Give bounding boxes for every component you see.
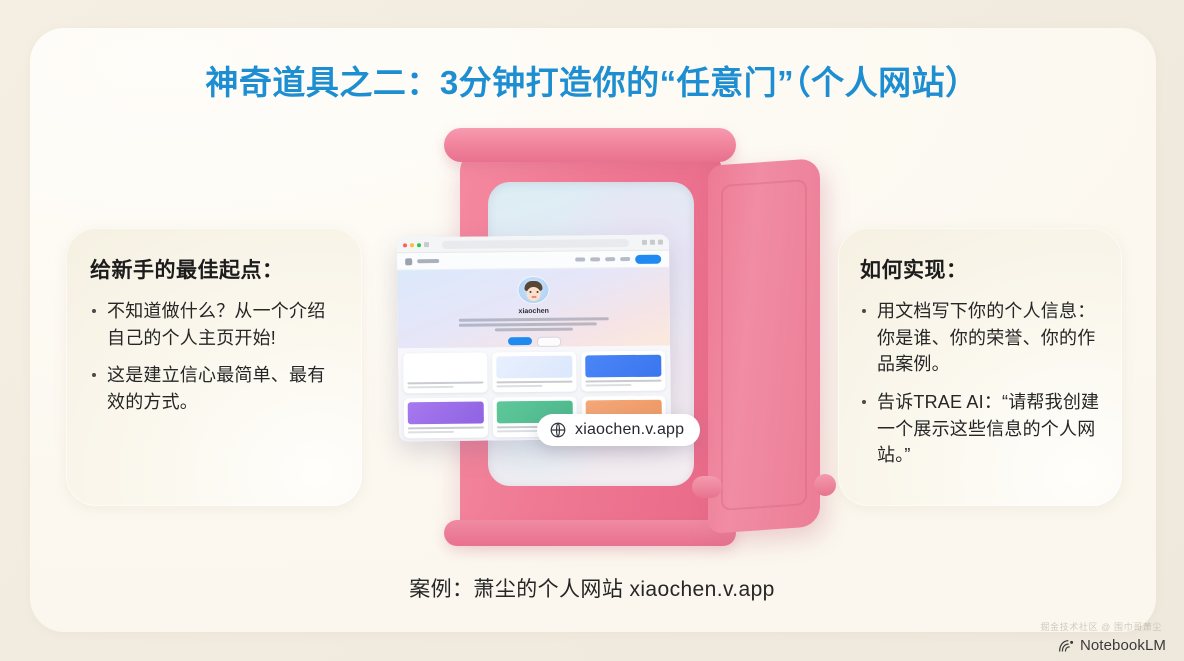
- text-line: [408, 431, 454, 433]
- list-item: 不知道做什么？从一个介绍自己的个人主页开始!: [90, 298, 340, 351]
- profile-name: xiaochen: [518, 308, 548, 315]
- site-url-text: xiaochen.v.app: [575, 421, 684, 439]
- text-line: [408, 427, 484, 430]
- new-tab-icon: [650, 240, 655, 245]
- text-line: [407, 386, 453, 388]
- left-card-heading: 给新手的最佳起点：: [90, 254, 340, 284]
- project-thumbnail: [496, 356, 572, 379]
- avatar-eye-right: [537, 291, 539, 293]
- avatar-eye-left: [530, 291, 532, 293]
- list-item-text: 用文档写下你的个人信息：你是谁、你的荣誉、你的作品案例。: [877, 301, 1095, 374]
- browser-mockup: xiaochen: [397, 235, 671, 442]
- text-line: [407, 382, 483, 385]
- list-item: 告诉TRAE AI：“请帮我创建一个展示这些信息的个人网站。”: [860, 389, 1102, 469]
- address-bar: [442, 239, 629, 249]
- share-icon: [642, 240, 647, 245]
- notebooklm-logo-icon: [1058, 638, 1075, 653]
- tabs-overview-icon: [658, 240, 663, 245]
- profile-action-buttons: [507, 337, 560, 348]
- list-item-text: 告诉TRAE AI：“请帮我创建一个展示这些信息的个人网站。”: [877, 392, 1099, 465]
- watermark-note: 掘金技术社区 @ 围巾哥萧尘: [1040, 620, 1162, 633]
- close-icon: [403, 243, 407, 247]
- maximize-icon: [417, 243, 421, 247]
- door-threshold: [444, 520, 736, 546]
- text-line: [496, 381, 572, 384]
- project-thumbnail: [408, 402, 484, 425]
- door-panel: [708, 158, 820, 534]
- right-info-card: 如何实现： 用文档写下你的个人信息：你是谁、你的荣誉、你的作品案例。 告诉TRA…: [838, 228, 1122, 506]
- text-line: [495, 328, 573, 331]
- list-item-text: 不知道做什么？从一个介绍自己的个人主页开始!: [107, 301, 325, 348]
- text-line: [459, 317, 609, 321]
- nav-link: [605, 257, 615, 261]
- bullet-dot-icon: [862, 400, 866, 404]
- list-item-text: 这是建立信心最简单、最有效的方式。: [107, 365, 325, 412]
- site-url-badge: xiaochen.v.app: [537, 414, 700, 446]
- door-knob-inner-icon: [692, 476, 722, 498]
- project-card: [404, 397, 488, 438]
- page-title: 神奇道具之二：3分钟打造你的“任意门”（个人网站）: [0, 56, 1184, 104]
- project-thumbnail: [585, 355, 661, 378]
- project-thumbnail: [407, 357, 483, 380]
- bullet-dot-icon: [92, 309, 96, 313]
- text-line: [459, 322, 597, 326]
- notebooklm-wordmark: NotebookLM: [1080, 637, 1166, 654]
- right-card-bullet-list: 用文档写下你的个人信息：你是谁、你的荣誉、你的作品案例。 告诉TRAE AI：“…: [860, 298, 1102, 469]
- door-knob-outer-icon: [814, 474, 836, 496]
- text-line: [585, 380, 661, 383]
- avatar-mouth: [532, 296, 537, 298]
- minimize-icon: [410, 243, 414, 247]
- nav-cta-button: [635, 254, 661, 263]
- list-item: 这是建立信心最简单、最有效的方式。: [90, 362, 340, 415]
- navbar-spacer: [444, 260, 570, 261]
- left-info-card: 给新手的最佳起点： 不知道做什么？从一个介绍自己的个人主页开始! 这是建立信心最…: [66, 228, 362, 506]
- avatar: [517, 276, 549, 304]
- left-card-bullet-list: 不知道做什么？从一个介绍自己的个人主页开始! 这是建立信心最简单、最有效的方式。: [90, 298, 340, 416]
- slide-root: 神奇道具之二：3分钟打造你的“任意门”（个人网站） 给新手的最佳起点： 不知道做…: [0, 0, 1184, 661]
- secondary-action-button: [536, 337, 560, 347]
- project-card: [581, 351, 665, 392]
- slide-caption: 案例：萧尘的个人网站 xiaochen.v.app: [0, 573, 1184, 603]
- door-lintel: [444, 128, 736, 162]
- profile-hero: xiaochen: [397, 268, 670, 349]
- sidebar-toggle-icon: [424, 242, 429, 247]
- bullet-dot-icon: [862, 309, 866, 313]
- project-card: [403, 352, 487, 393]
- list-item: 用文档写下你的个人信息：你是谁、你的荣誉、你的作品案例。: [860, 298, 1102, 378]
- nav-link: [590, 257, 600, 261]
- bullet-dot-icon: [92, 373, 96, 377]
- avatar-face: [526, 287, 540, 301]
- text-line: [497, 430, 543, 432]
- nav-link: [620, 257, 630, 261]
- right-card-heading: 如何实现：: [860, 254, 1102, 284]
- project-card: [492, 352, 576, 393]
- text-line: [585, 384, 631, 386]
- globe-icon: [549, 421, 567, 439]
- notebooklm-watermark: NotebookLM: [1058, 637, 1166, 654]
- site-logo-icon: [405, 258, 412, 265]
- primary-action-button: [507, 337, 531, 345]
- profile-description: [459, 317, 609, 334]
- site-wordmark: [417, 259, 439, 263]
- nav-link: [575, 257, 585, 261]
- text-line: [496, 385, 542, 387]
